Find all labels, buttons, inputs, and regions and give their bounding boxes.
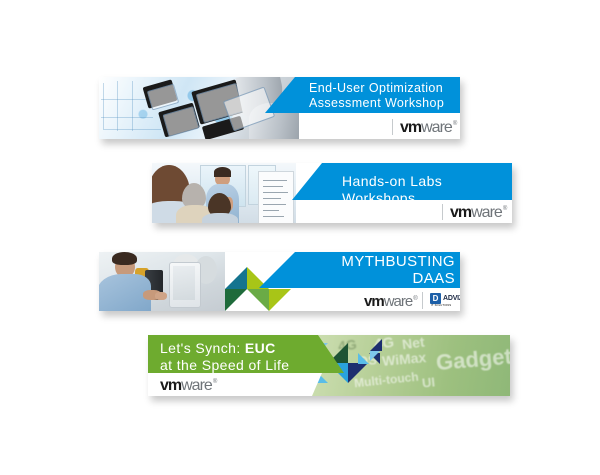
vmware-logo: vm ware ® (364, 293, 417, 310)
advizex-wordmark: ADVIZEX (443, 295, 460, 302)
vmware-vm-text: vm (364, 293, 384, 310)
banner-headline: Hands-on Labs Workshops (342, 173, 504, 206)
vmware-registered-mark: ® (503, 206, 506, 212)
triangle-lime-right (269, 289, 291, 311)
logo-divider (422, 292, 423, 309)
advizex-tagline: IT SOLUTIONS (431, 304, 451, 307)
vmware-logo: vm ware ® (450, 204, 506, 222)
logo-plate-angle (300, 373, 332, 396)
triangle-green-mid (247, 289, 269, 311)
headline-line-2: Assessment Workshop (309, 96, 457, 111)
vmware-ware-text: ware (384, 293, 413, 310)
vmware-ware-text: ware (181, 377, 212, 395)
headline-strong: EUC (245, 340, 276, 356)
vmware-logo: vm ware ® (160, 377, 216, 395)
vmware-registered-mark: ® (213, 379, 216, 385)
banner-collage: End-User Optimization Assessment Worksho… (0, 0, 600, 475)
logo-divider (442, 204, 443, 220)
headline-line-2: DAAS (299, 271, 455, 288)
headline-prefix: Let's Synch: (160, 340, 245, 356)
vmware-vm-text: vm (160, 377, 181, 395)
banner-headline: MYTHBUSTING DAAS (299, 254, 455, 288)
headline-line-1: Let's Synch: EUC (160, 340, 310, 357)
advizex-name-main: ADVIZE (443, 295, 460, 302)
vmware-registered-mark: ® (453, 121, 456, 127)
headline-line-2: at the Speed of Life (160, 357, 310, 374)
vmware-ware-text: ware (471, 204, 502, 222)
headline-line-1: MYTHBUSTING (299, 254, 455, 271)
banner-end-user-optimization[interactable]: End-User Optimization Assessment Worksho… (99, 77, 460, 139)
vmware-vm-text: vm (450, 204, 471, 222)
advizex-mark-letter: D (433, 293, 439, 304)
vmware-ware-text: ware (421, 119, 452, 137)
advizex-mark-icon: D (430, 293, 441, 304)
vmware-logo: vm ware ® (400, 119, 456, 137)
banner-lets-synch-euc[interactable]: 4G 4G Net OS WiMax Gadget Multi-touch UI (148, 335, 510, 396)
banner-headline: End-User Optimization Assessment Worksho… (309, 81, 457, 111)
triangle-green-dark (225, 289, 247, 311)
vmware-registered-mark: ® (413, 296, 416, 302)
banner-mythbusting-daas[interactable]: MYTHBUSTING DAAS vm ware ® D ADVIZEX IT … (99, 252, 460, 311)
banner-headline: Let's Synch: EUC at the Speed of Life (160, 340, 310, 374)
headline-line-1: End-User Optimization (309, 81, 457, 96)
banner-hands-on-labs[interactable]: Hands-on Labs Workshops vm ware ® (152, 163, 512, 223)
advizex-logo: D ADVIZEX (430, 293, 460, 304)
logo-divider (392, 119, 393, 135)
vmware-vm-text: vm (400, 119, 421, 137)
headline-line-1: Hands-on Labs Workshops (342, 173, 504, 206)
